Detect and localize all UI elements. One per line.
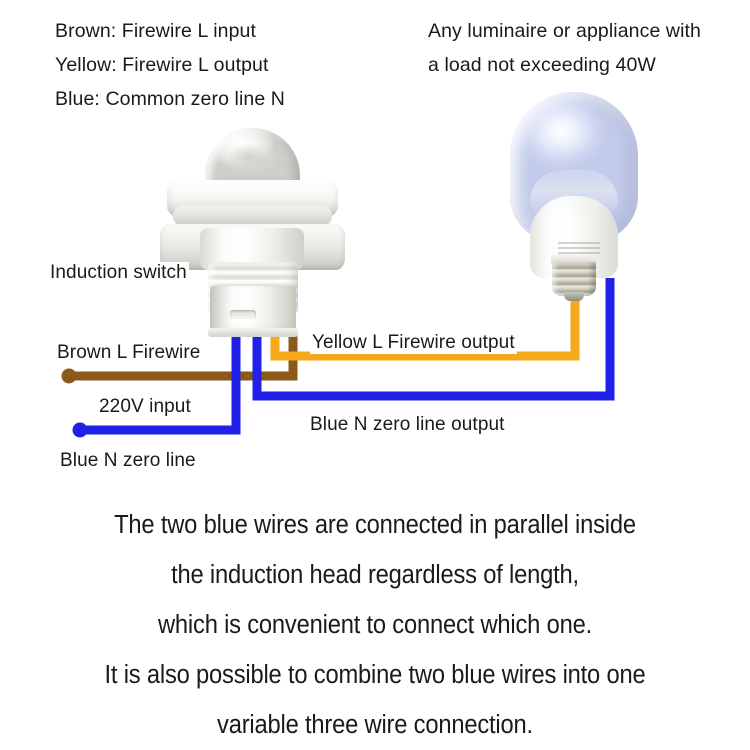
sensor-vent-slot	[230, 310, 256, 319]
caption-line-2: a load not exceeding 40W	[428, 48, 746, 82]
sensor-flange-lip	[173, 206, 332, 226]
label-induction-switch: Induction switch	[48, 262, 189, 284]
blue-terminal-dot	[73, 423, 88, 438]
caption-line-1: Any luminaire or appliance with	[428, 14, 746, 48]
note-line-1: The two blue wires are connected in para…	[26, 500, 724, 550]
brown-terminal-dot	[62, 369, 77, 384]
note-line-4: It is also possible to combine two blue …	[26, 650, 724, 700]
diagram-canvas: Brown: Firewire L input Yellow: Firewire…	[0, 0, 750, 750]
sensor-bottom-lip	[208, 328, 298, 337]
note-line-2: the induction head regardless of length,	[26, 550, 724, 600]
bulb-base-contact-tip	[564, 292, 584, 301]
legend-line-blue: Blue: Common zero line N	[55, 82, 375, 116]
led-light-bulb	[500, 92, 650, 297]
legend-line-yellow: Yellow: Firewire L output	[55, 48, 375, 82]
explanatory-note: The two blue wires are connected in para…	[0, 500, 750, 750]
wire-color-legend: Brown: Firewire L input Yellow: Firewire…	[55, 14, 375, 116]
bulb-e27-screw-base	[552, 262, 596, 296]
note-line-5: variable three wire connection.	[26, 700, 724, 750]
pir-induction-sensor	[160, 128, 345, 333]
label-blue-n-zero-line: Blue N zero line	[58, 450, 198, 472]
note-line-3: which is convenient to connect which one…	[26, 600, 724, 650]
label-yellow-l-firewire-out: Yellow L Firewire output	[310, 332, 517, 354]
label-blue-n-zero-line-out: Blue N zero line output	[308, 414, 507, 436]
label-brown-l-firewire: Brown L Firewire	[55, 342, 202, 364]
load-caption: Any luminaire or appliance with a load n…	[428, 14, 746, 82]
label-220v-input: 220V input	[97, 396, 193, 418]
legend-line-brown: Brown: Firewire L input	[55, 14, 375, 48]
